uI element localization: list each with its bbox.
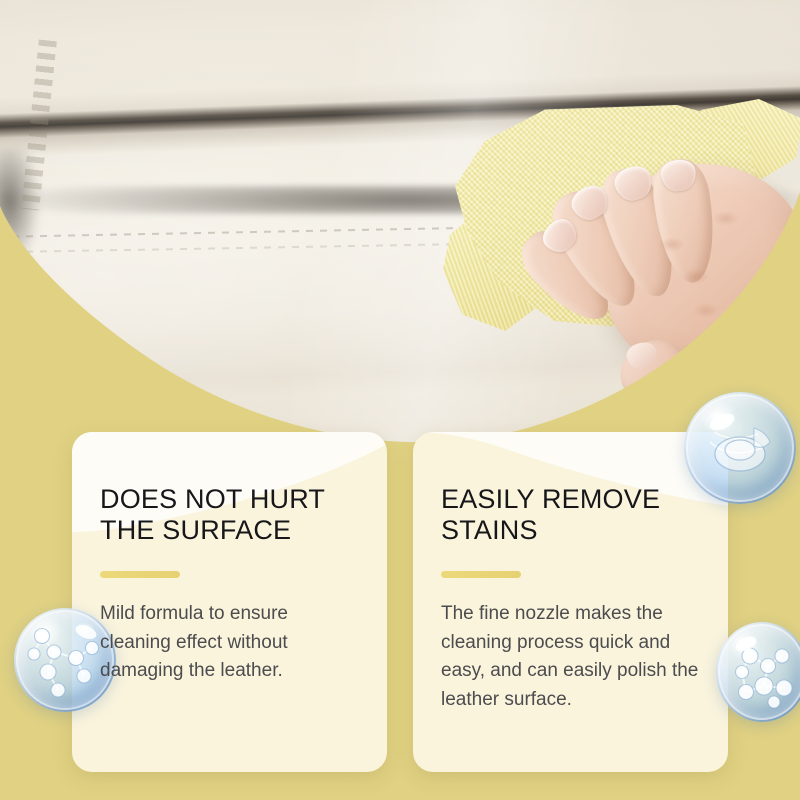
hero-photo-mask <box>0 0 800 480</box>
knuckle-1 <box>659 237 685 252</box>
hand-with-cloth <box>455 105 800 405</box>
bubble-rim <box>686 394 794 502</box>
bubble-glint <box>731 634 755 650</box>
card-body-text: Mild formula to ensure cleaning effect w… <box>100 600 359 687</box>
card-body-text: The fine nozzle makes the cleaning proce… <box>441 600 700 716</box>
accent-bar <box>441 571 521 578</box>
feature-card-does-not-hurt: DOES NOT HURT THE SURFACE Mild formula t… <box>72 432 387 772</box>
feature-card-easily-remove: EASILY REMOVE STAINS The fine nozzle mak… <box>413 432 728 772</box>
bubble-glint <box>71 620 98 637</box>
bubble-rim <box>718 624 800 720</box>
water-droplet-icon <box>684 392 796 504</box>
bubble-glint <box>704 408 733 427</box>
knuckle-4 <box>713 211 739 226</box>
leather-sofa-photo <box>0 0 800 480</box>
accent-bar <box>100 571 180 578</box>
card-heading: EASILY REMOVE STAINS <box>441 484 700 547</box>
feature-cards: DOES NOT HURT THE SURFACE Mild formula t… <box>72 432 728 772</box>
card-heading: DOES NOT HURT THE SURFACE <box>100 484 359 547</box>
water-molecule-icon <box>716 622 800 722</box>
knuckle-3 <box>693 303 719 318</box>
knuckle-2 <box>683 269 709 284</box>
card-content: DOES NOT HURT THE SURFACE Mild formula t… <box>100 484 359 686</box>
hand <box>507 145 797 405</box>
card-content: EASILY REMOVE STAINS The fine nozzle mak… <box>441 484 700 715</box>
infographic-canvas: DOES NOT HURT THE SURFACE Mild formula t… <box>0 0 800 800</box>
